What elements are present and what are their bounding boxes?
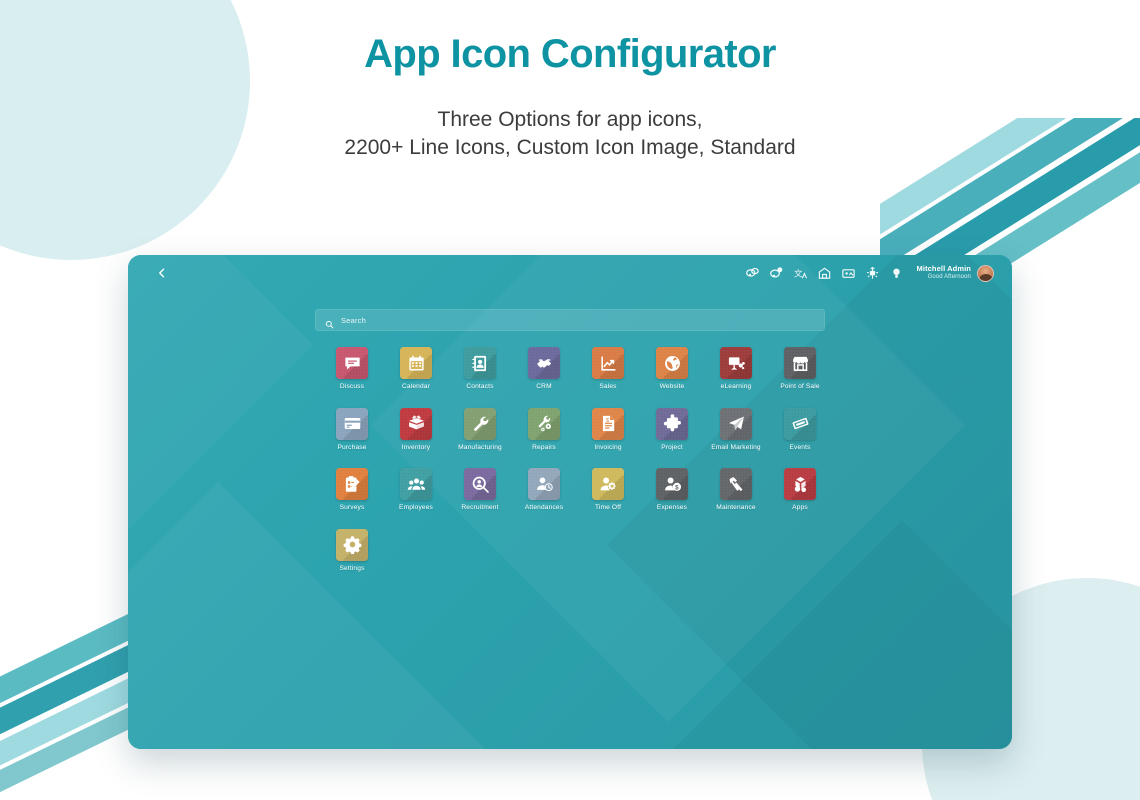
user-menu[interactable]: Mitchell Admin Good Afternoon <box>917 265 1012 282</box>
ticket-icon[interactable] <box>784 408 816 440</box>
app-label: Sales <box>599 384 616 391</box>
invoice-icon[interactable]: $ <box>592 408 624 440</box>
page-subtitle: Three Options for app icons, 2200+ Line … <box>0 106 1140 162</box>
app-label: Invoicing <box>594 445 621 452</box>
app-label: CRM <box>536 384 551 391</box>
app-item-invoicing[interactable]: $Invoicing <box>576 408 640 452</box>
subtitle-line-2: 2200+ Line Icons, Custom Icon Image, Sta… <box>0 134 1140 162</box>
lightbulb-icon[interactable] <box>889 266 904 281</box>
window-topbar: 文 Mitchell Admin Good Afternoon <box>128 255 1012 291</box>
app-label: Repairs <box>532 445 556 452</box>
app-label: Manufacturing <box>458 445 502 452</box>
subtitle-line-1: Three Options for app icons, <box>0 106 1140 134</box>
gear-icon[interactable] <box>336 529 368 561</box>
app-label: Calendar <box>402 384 430 391</box>
activities-icon[interactable] <box>769 266 784 281</box>
app-label: Inventory <box>402 445 430 452</box>
blocks-icon[interactable] <box>784 468 816 500</box>
search-person-icon[interactable] <box>464 468 496 500</box>
app-item-project[interactable]: Project <box>640 408 704 452</box>
debug-icon[interactable] <box>865 266 880 281</box>
person-gear-icon[interactable] <box>592 468 624 500</box>
shop-icon[interactable] <box>817 266 832 281</box>
open-box-icon[interactable] <box>400 408 432 440</box>
app-label: Employees <box>399 505 433 512</box>
app-label: Expenses <box>657 505 687 512</box>
app-label: Surveys <box>340 505 365 512</box>
presentation-icon[interactable] <box>720 347 752 379</box>
app-item-attendances[interactable]: Attendances <box>512 468 576 512</box>
app-label: Contacts <box>466 384 493 391</box>
contact-card-icon[interactable] <box>464 347 496 379</box>
app-label: Purchase <box>337 445 366 452</box>
app-item-sales[interactable]: Sales <box>576 347 640 391</box>
app-item-maintenance[interactable]: Maintenance <box>704 468 768 512</box>
app-label: Project <box>661 445 683 452</box>
app-item-manufacturing[interactable]: Manufacturing <box>448 408 512 452</box>
app-item-employees[interactable]: Employees <box>384 468 448 512</box>
paper-plane-icon[interactable] <box>720 408 752 440</box>
app-item-inventory[interactable]: Inventory <box>384 408 448 452</box>
app-item-repairs[interactable]: Repairs <box>512 408 576 452</box>
trend-chart-icon[interactable] <box>592 347 624 379</box>
chat-bubble-icon[interactable] <box>336 347 368 379</box>
user-name: Mitchell Admin <box>917 265 971 273</box>
page-title: App Icon Configurator <box>0 32 1140 77</box>
systray-icons: 文 <box>745 266 912 281</box>
wrench-gear-icon[interactable] <box>528 408 560 440</box>
messages-icon[interactable] <box>745 266 760 281</box>
app-item-website[interactable]: Website <box>640 347 704 391</box>
presentation-icon[interactable] <box>841 266 856 281</box>
svg-text:文: 文 <box>793 268 802 278</box>
app-item-discuss[interactable]: Discuss <box>320 347 384 391</box>
translate-icon[interactable]: 文 <box>793 266 808 281</box>
clipboard-pen-icon[interactable] <box>336 468 368 500</box>
app-item-surveys[interactable]: Surveys <box>320 468 384 512</box>
app-label: Recruitment <box>461 505 498 512</box>
app-window: 文 Mitchell Admin Good Afternoon <box>128 255 1012 749</box>
app-label: Discuss <box>340 384 364 391</box>
app-label: Apps <box>792 505 808 512</box>
app-item-time-off[interactable]: Time Off <box>576 468 640 512</box>
app-item-settings[interactable]: Settings <box>320 529 384 573</box>
app-item-expenses[interactable]: $Expenses <box>640 468 704 512</box>
user-greeting: Good Afternoon <box>917 274 971 281</box>
svg-text:$: $ <box>606 418 609 424</box>
app-label: Time Off <box>595 505 621 512</box>
calendar-icon[interactable] <box>400 347 432 379</box>
app-label: Events <box>789 445 810 452</box>
app-item-contacts[interactable]: Contacts <box>448 347 512 391</box>
app-label: Maintenance <box>716 505 755 512</box>
people-group-icon[interactable] <box>400 468 432 500</box>
person-clock-icon[interactable] <box>528 468 560 500</box>
chevron-left-icon[interactable] <box>154 265 170 281</box>
handshake-icon[interactable] <box>528 347 560 379</box>
app-label: eLearning <box>721 384 752 391</box>
search-icon <box>325 316 334 325</box>
search-input[interactable]: Search <box>315 309 825 331</box>
app-item-calendar[interactable]: Calendar <box>384 347 448 391</box>
storefront-icon[interactable] <box>784 347 816 379</box>
globe-icon[interactable] <box>656 347 688 379</box>
app-item-email-marketing[interactable]: Email Marketing <box>704 408 768 452</box>
app-item-purchase[interactable]: Purchase <box>320 408 384 452</box>
app-item-crm[interactable]: CRM <box>512 347 576 391</box>
app-label: Email Marketing <box>711 445 761 452</box>
app-item-point-of-sale[interactable]: Point of Sale <box>768 347 832 391</box>
user-info: Mitchell Admin Good Afternoon <box>917 265 971 280</box>
person-dollar-icon[interactable]: $ <box>656 468 688 500</box>
app-item-recruitment[interactable]: Recruitment <box>448 468 512 512</box>
poster-page: App Icon Configurator Three Options for … <box>0 0 1140 800</box>
avatar[interactable] <box>977 265 994 282</box>
wrench-icon[interactable] <box>464 408 496 440</box>
app-item-events[interactable]: Events <box>768 408 832 452</box>
app-grid: DiscussCalendarContactsCRMSalesWebsiteeL… <box>320 347 840 589</box>
search-placeholder: Search <box>341 316 366 325</box>
app-label: Website <box>660 384 685 391</box>
app-item-elearning[interactable]: eLearning <box>704 347 768 391</box>
credit-card-icon[interactable] <box>336 408 368 440</box>
app-label: Point of Sale <box>780 384 819 391</box>
app-item-apps[interactable]: Apps <box>768 468 832 512</box>
hammer-icon[interactable] <box>720 468 752 500</box>
svg-text:$: $ <box>675 484 679 491</box>
puzzle-icon[interactable] <box>656 408 688 440</box>
app-label: Settings <box>339 566 364 573</box>
app-label: Attendances <box>525 505 563 512</box>
